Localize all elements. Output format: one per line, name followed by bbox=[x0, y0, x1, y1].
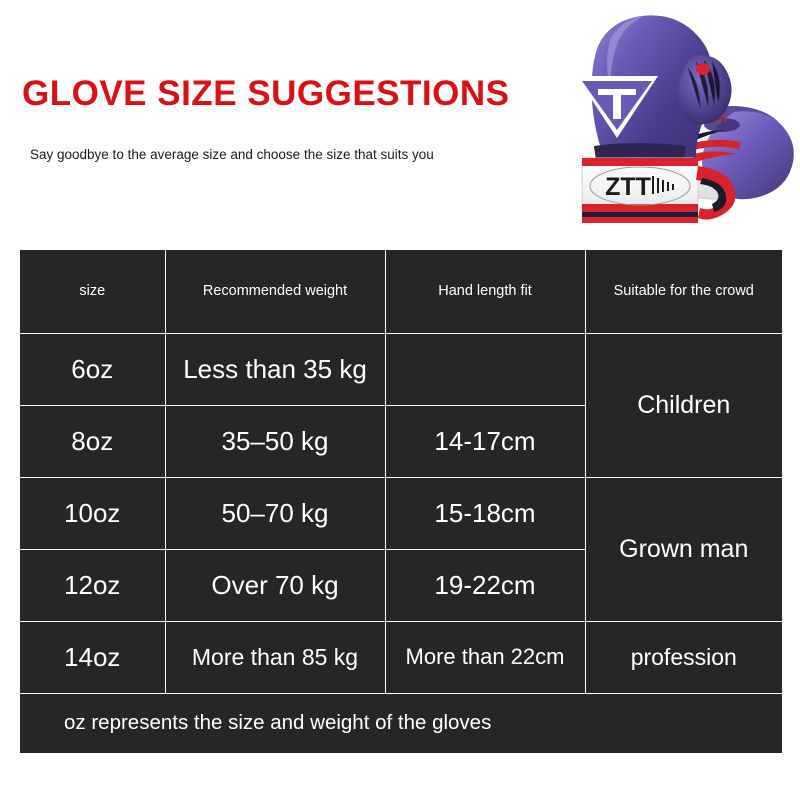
column-header-crowd: Suitable for the crowd bbox=[585, 250, 782, 333]
table-row: 14oz More than 85 kg More than 22cm prof… bbox=[20, 621, 782, 693]
table-footer-row: oz represents the size and weight of the… bbox=[20, 693, 782, 753]
cell-weight: Over 70 kg bbox=[165, 549, 385, 621]
cell-weight: 35–50 kg bbox=[165, 405, 385, 477]
cell-hand: 14-17cm bbox=[385, 405, 585, 477]
cell-hand: More than 22cm bbox=[385, 621, 585, 693]
cell-crowd: profession bbox=[585, 621, 782, 693]
column-header-size: size bbox=[20, 250, 165, 333]
cell-weight: Less than 35 kg bbox=[165, 333, 385, 405]
cell-size: 12oz bbox=[20, 549, 165, 621]
table-row: 10oz 50–70 kg 15-18cm Grown man bbox=[20, 477, 782, 549]
column-header-weight: Recommended weight bbox=[165, 250, 385, 333]
page-title: GLOVE SIZE SUGGESTIONS bbox=[22, 74, 509, 114]
column-header-hand-length: Hand length fit bbox=[385, 250, 585, 333]
cell-hand: 19-22cm bbox=[385, 549, 585, 621]
table-header-row: size Recommended weight Hand length fit … bbox=[20, 250, 782, 333]
cell-hand bbox=[385, 333, 585, 405]
footer-note: oz represents the size and weight of the… bbox=[20, 693, 782, 753]
cell-size: 10oz bbox=[20, 477, 165, 549]
svg-text:ZTT: ZTT bbox=[605, 173, 651, 201]
glove-size-table: size Recommended weight Hand length fit … bbox=[20, 250, 782, 753]
cell-size: 14oz bbox=[20, 621, 165, 693]
cell-hand: 15-18cm bbox=[385, 477, 585, 549]
cell-crowd: Grown man bbox=[585, 477, 782, 621]
cell-size: 8oz bbox=[20, 405, 165, 477]
boxing-gloves-image: ZTT bbox=[536, 6, 796, 230]
cell-crowd: Children bbox=[585, 333, 782, 477]
page-subtitle: Say goodbye to the average size and choo… bbox=[30, 147, 434, 162]
cell-size: 6oz bbox=[20, 333, 165, 405]
cell-weight: 50–70 kg bbox=[165, 477, 385, 549]
cell-weight: More than 85 kg bbox=[165, 621, 385, 693]
table-body: size Recommended weight Hand length fit … bbox=[20, 250, 782, 753]
table-row: 6oz Less than 35 kg Children bbox=[20, 333, 782, 405]
